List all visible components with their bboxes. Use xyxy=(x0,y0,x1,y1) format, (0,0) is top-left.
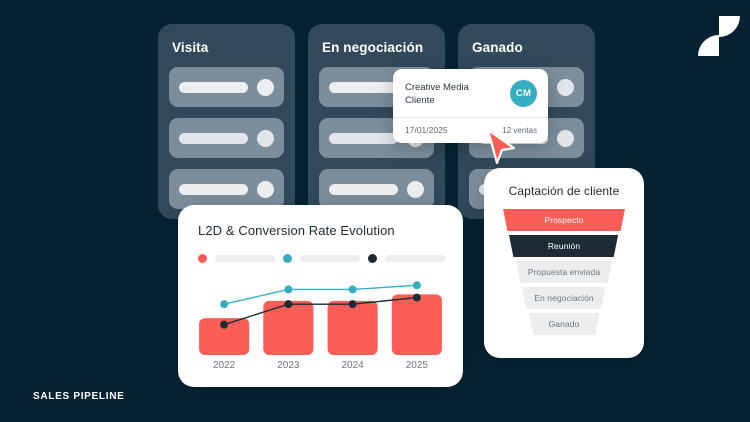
column-title: En negociación xyxy=(322,40,434,55)
kanban-card[interactable] xyxy=(319,169,434,209)
funnel-stage[interactable]: Propuesta enviada xyxy=(514,261,614,283)
card-title-placeholder xyxy=(329,184,398,195)
card-avatar-placeholder xyxy=(257,130,274,147)
funnel-card: Captación de cliente ProspectoReuniónPro… xyxy=(484,168,644,358)
legend-item xyxy=(283,254,360,263)
chart-line xyxy=(224,285,417,304)
x-tick-label: 2025 xyxy=(385,360,449,371)
funnel-stage[interactable]: Prospecto xyxy=(501,209,627,231)
logo-petal-top xyxy=(719,16,740,37)
legend-item xyxy=(368,254,445,263)
funnel-stage[interactable]: Reunión xyxy=(507,235,620,257)
mouse-cursor-icon xyxy=(484,128,518,166)
funnel-stage-label: Propuesta enviada xyxy=(528,267,601,277)
x-tick-label: 2024 xyxy=(321,360,385,371)
avatar: CM xyxy=(510,80,537,107)
chart-bar xyxy=(392,294,442,355)
chart-legend xyxy=(198,254,445,263)
card-title-placeholder xyxy=(329,133,398,144)
legend-item xyxy=(198,254,275,263)
column-title: Visita xyxy=(172,40,284,55)
legend-label-placeholder xyxy=(385,255,445,262)
kanban-card[interactable] xyxy=(169,169,284,209)
logo-petal-bottom xyxy=(698,35,719,56)
card-avatar-placeholder xyxy=(557,130,574,147)
popup-footer: 17/01/2025 12 ventas xyxy=(393,117,548,143)
funnel-stage-label: Reunión xyxy=(548,241,580,251)
legend-label-placeholder xyxy=(215,255,275,262)
chart-plot-area xyxy=(192,273,449,355)
funnel-stage-label: En negociación xyxy=(534,293,594,303)
deal-detail-popup[interactable]: Creative Media Cliente CM 17/01/2025 12 … xyxy=(393,69,548,143)
card-title-placeholder xyxy=(179,133,248,144)
kanban-card[interactable] xyxy=(169,67,284,107)
funnel-stage[interactable]: En negociación xyxy=(520,287,608,309)
scene: Visita En negociación xyxy=(0,0,750,422)
chart-title: L2D & Conversion Rate Evolution xyxy=(198,223,395,238)
popup-date: 17/01/2025 xyxy=(405,125,448,135)
funnel-stage-list: ProspectoReuniónPropuesta enviadaEn nego… xyxy=(484,209,644,335)
chart-point xyxy=(413,294,421,302)
x-tick-label: 2023 xyxy=(256,360,320,371)
chart-bar xyxy=(263,301,313,355)
popup-role-label: Cliente xyxy=(405,94,502,107)
popup-name-block: Creative Media Cliente xyxy=(405,81,502,107)
card-title-placeholder xyxy=(179,82,248,93)
chart-point xyxy=(284,285,292,293)
popup-company-name: Creative Media xyxy=(405,81,502,94)
chart-point xyxy=(349,300,357,308)
kanban-card[interactable] xyxy=(169,118,284,158)
funnel-stage-label: Prospecto xyxy=(544,215,583,225)
kanban-column-visita[interactable]: Visita xyxy=(158,24,295,219)
card-avatar-placeholder xyxy=(407,181,424,198)
chart-point xyxy=(413,281,421,289)
legend-label-placeholder xyxy=(300,255,360,262)
chart-point xyxy=(349,285,357,293)
x-tick-label: 2022 xyxy=(192,360,256,371)
funnel-stage[interactable]: Ganado xyxy=(527,313,602,335)
card-avatar-placeholder xyxy=(257,79,274,96)
chart-point xyxy=(220,300,228,308)
chart-point xyxy=(284,300,292,308)
page-caption: SALES PIPELINE xyxy=(33,391,125,402)
legend-dot-teal xyxy=(283,254,292,263)
brand-logo-icon xyxy=(697,14,741,58)
card-avatar-placeholder xyxy=(557,79,574,96)
card-avatar-placeholder xyxy=(257,181,274,198)
card-title-placeholder xyxy=(329,82,398,93)
chart-line xyxy=(224,298,417,325)
chart-bar xyxy=(328,301,378,355)
chart-point xyxy=(220,321,228,329)
funnel-title: Captación de cliente xyxy=(484,168,644,198)
popup-header: Creative Media Cliente CM xyxy=(393,69,548,117)
funnel-stage-label: Ganado xyxy=(549,319,580,329)
chart-x-axis: 2022 2023 2024 2025 xyxy=(192,360,449,371)
column-title: Ganado xyxy=(472,40,584,55)
card-title-placeholder xyxy=(179,184,248,195)
legend-dot-coral xyxy=(198,254,207,263)
chart-card: L2D & Conversion Rate Evolution 2022 202… xyxy=(178,205,463,387)
legend-dot-dark xyxy=(368,254,377,263)
